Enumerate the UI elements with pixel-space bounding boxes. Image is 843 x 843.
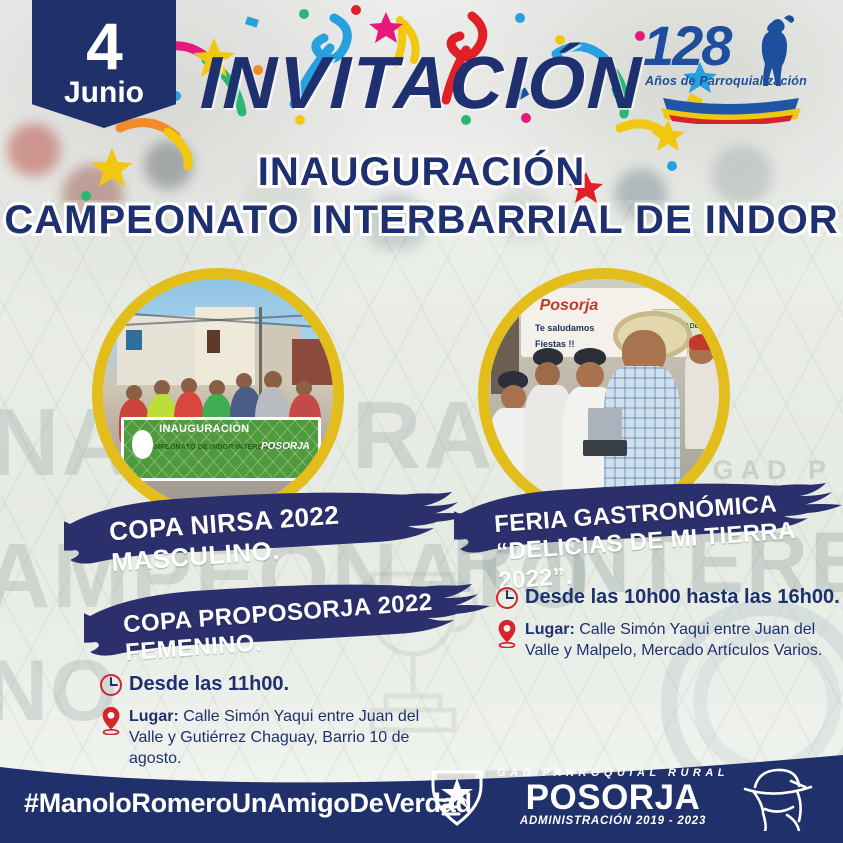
hat-man-icon <box>735 765 821 831</box>
info-right-time: Desde las 10h00 hasta las 16h00. <box>525 585 840 610</box>
event-banner-3: FERIA GASTRONÓMICA “DELICIAS DE MI TIERR… <box>454 478 843 580</box>
info-right-place-label: Lugar: <box>525 621 575 638</box>
info-right-place-line2: Malpelo, Mercado Artículos Varios. <box>576 642 822 659</box>
date-month: Junio <box>64 78 144 108</box>
footer-hashtag: #ManoloRomeroUnAmigoDeVerdad <box>24 788 472 819</box>
subtitle-block: INAUGURACIÓN CAMPEONATO INTERBARRIAL DE … <box>0 150 843 244</box>
info-left-time-row: Desde las 11h00. <box>98 672 458 702</box>
subtitle-line1: INAUGURACIÓN <box>0 150 843 196</box>
map-pin-icon <box>98 705 124 735</box>
flag-ribbon-icon <box>661 98 801 124</box>
shield-star-icon <box>425 766 491 830</box>
anniversary-number: 128 <box>643 18 730 74</box>
info-left-time: Desde las 11h00. <box>129 672 289 697</box>
clock-icon <box>98 670 124 700</box>
photo-parade-ring <box>92 268 344 520</box>
photo-parade: INAUGURACIÓN CAMPEONATO DE INDOR INTERBA… <box>92 268 344 520</box>
info-left-place-label: Lugar: <box>129 708 179 725</box>
anniversary-logo: 128 Años de Parroquialización <box>639 12 821 124</box>
footer-logo-bottom: ADMINISTRACIÓN 2019 - 2023 <box>497 816 729 828</box>
date-badge: 4 Junio <box>32 0 176 128</box>
info-right-place-row: Lugar: Calle Simón Yaqui entre Juan del … <box>494 620 842 662</box>
date-day: 4 <box>86 16 122 77</box>
footer-logo: GAD PARROQUIAL RURAL POSORJA ADMINISTRAC… <box>425 762 821 834</box>
map-pin-icon <box>494 618 520 648</box>
clock-icon <box>494 583 520 613</box>
footer-logo-text: GAD PARROQUIAL RURAL POSORJA ADMINISTRAC… <box>497 768 729 828</box>
info-right-place: Lugar: Calle Simón Yaqui entre Juan del … <box>525 620 842 662</box>
footer-logo-main: POSORJA <box>497 780 729 815</box>
info-right-time-row: Desde las 10h00 hasta las 16h00. <box>494 585 842 615</box>
event-banner-2: COPA PROPOSORJA 2022 FEMENINO. <box>84 578 504 684</box>
subtitle-line2: CAMPEONATO INTERBARRIAL DE INDOR <box>0 196 843 244</box>
anniversary-subtitle: Años de Parroquialización <box>645 74 807 88</box>
info-block-right: Desde las 10h00 hasta las 16h00. Lugar: … <box>494 585 842 667</box>
invitation-poster: NA AMPEONATO NO RAC R INTERBARRIA FEMENI… <box>0 0 843 843</box>
event-banner-1: COPA NIRSA 2022 MASCULINO. <box>64 486 484 592</box>
